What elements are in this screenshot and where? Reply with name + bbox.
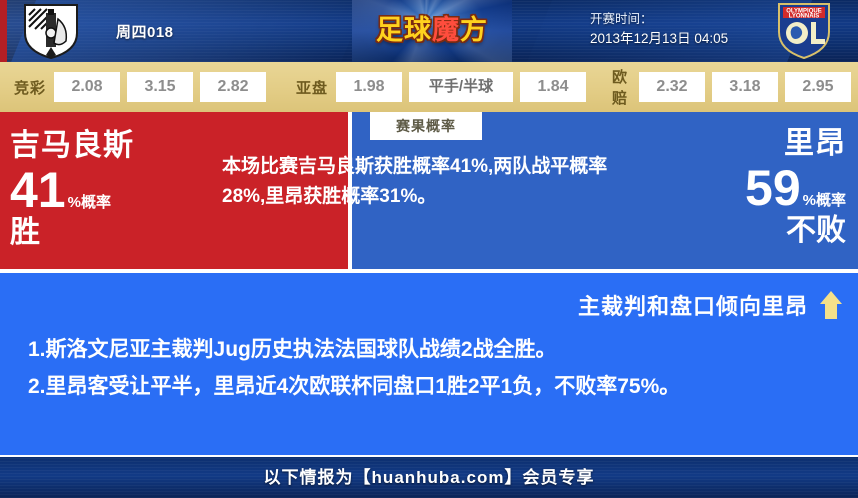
brand-logo: 足球魔方: [352, 0, 512, 62]
odds-group-oupei: 欧赔 2.32 3.18 2.95: [612, 62, 858, 112]
probability-tag-label: 赛果概率: [370, 112, 482, 140]
away-probability-value-row: 59 %概率: [636, 162, 846, 214]
footer-text: 以下情报为【huanhuba.com】会员专享: [0, 457, 858, 498]
odds-group-title: 竞彩: [14, 77, 46, 98]
odds-cell-home[interactable]: 2.32: [639, 72, 705, 102]
kickoff-label: 开赛时间：: [590, 10, 765, 29]
home-probability-result: 胜: [10, 216, 190, 250]
odds-cell-draw[interactable]: 3.15: [127, 72, 193, 102]
odds-cell-home[interactable]: 1.98: [336, 72, 402, 102]
analysis-headline: 主裁判和盘口倾向里昂: [578, 289, 808, 321]
analysis-section: 主裁判和盘口倾向里昂 1.斯洛文尼亚主裁判Jug历史执法法国球队战绩2战全胜。 …: [0, 273, 858, 455]
odds-cell-draw[interactable]: 3.18: [712, 72, 778, 102]
svg-text:LYONNAIS: LYONNAIS: [789, 14, 819, 20]
home-probability-stat: 吉马良斯 41 %概率 胜: [10, 128, 190, 250]
away-probability-result: 不败: [636, 214, 846, 248]
brand-logo-part3: 方: [460, 15, 488, 46]
odds-cell-away[interactable]: 1.84: [520, 72, 586, 102]
brand-logo-part2: 魔: [432, 15, 460, 46]
away-team-name: 里昂: [636, 126, 846, 162]
footer-bar: 以下情报为【huanhuba.com】会员专享: [0, 457, 858, 498]
away-probability-unit: %概率: [803, 193, 846, 214]
away-team-crest-icon: OLYMPIQUE LYONNAIS: [775, 2, 833, 60]
arrow-up-icon: [820, 291, 842, 319]
home-probability-number: 41: [10, 164, 66, 216]
analysis-point-1: 1.斯洛文尼亚主裁判Jug历史执法法国球队战绩2战全胜。: [28, 331, 828, 368]
odds-group-title: 欧赔: [612, 66, 631, 108]
odds-cell-away[interactable]: 2.95: [785, 72, 851, 102]
probability-summary-text: 本场比赛吉马良斯获胜概率41%,两队战平概率28%,里昂获胜概率31%。: [222, 152, 622, 212]
home-probability-unit: %概率: [68, 195, 111, 216]
away-probability-stat: 里昂 59 %概率 不败: [636, 126, 846, 248]
odds-cell-home[interactable]: 2.08: [54, 72, 120, 102]
analysis-point-2: 2.里昂客受让平半，里昂近4次欧联杯同盘口1胜2平1负，不败率75%。: [28, 368, 828, 405]
home-team-name: 吉马良斯: [10, 128, 190, 164]
kickoff-info: 开赛时间： 2013年12月13日 04:05: [590, 10, 765, 49]
home-team-crest-icon: [22, 3, 80, 59]
odds-cell-away[interactable]: 2.82: [200, 72, 266, 102]
kickoff-time: 2013年12月13日 04:05: [590, 29, 765, 49]
away-probability-number: 59: [745, 162, 801, 214]
odds-bar: 竞彩 2.08 3.15 2.82 亚盘 1.98 平手/半球 1.84 欧赔 …: [0, 62, 858, 112]
brand-logo-text: 足球魔方: [352, 12, 512, 50]
infographic-page: 周四018 足球魔方 开赛时间： 2013年12月13日 04:05 OLYMP…: [0, 0, 858, 498]
header-bar: 周四018 足球魔方 开赛时间： 2013年12月13日 04:05 OLYMP…: [0, 0, 858, 62]
header-red-edge: [0, 0, 7, 62]
odds-group-jingcai: 竞彩 2.08 3.15 2.82: [14, 62, 273, 112]
match-number: 周四018: [116, 21, 174, 42]
odds-group-yapan: 亚盘 1.98 平手/半球 1.84: [296, 62, 593, 112]
analysis-headline-row: 主裁判和盘口倾向里昂: [578, 289, 842, 321]
odds-group-title: 亚盘: [296, 77, 328, 98]
home-probability-value-row: 41 %概率: [10, 164, 190, 216]
odds-cell-handicap[interactable]: 平手/半球: [409, 72, 513, 102]
analysis-points: 1.斯洛文尼亚主裁判Jug历史执法法国球队战绩2战全胜。 2.里昂客受让平半，里…: [28, 331, 828, 405]
brand-logo-part1: 足球: [376, 15, 432, 46]
